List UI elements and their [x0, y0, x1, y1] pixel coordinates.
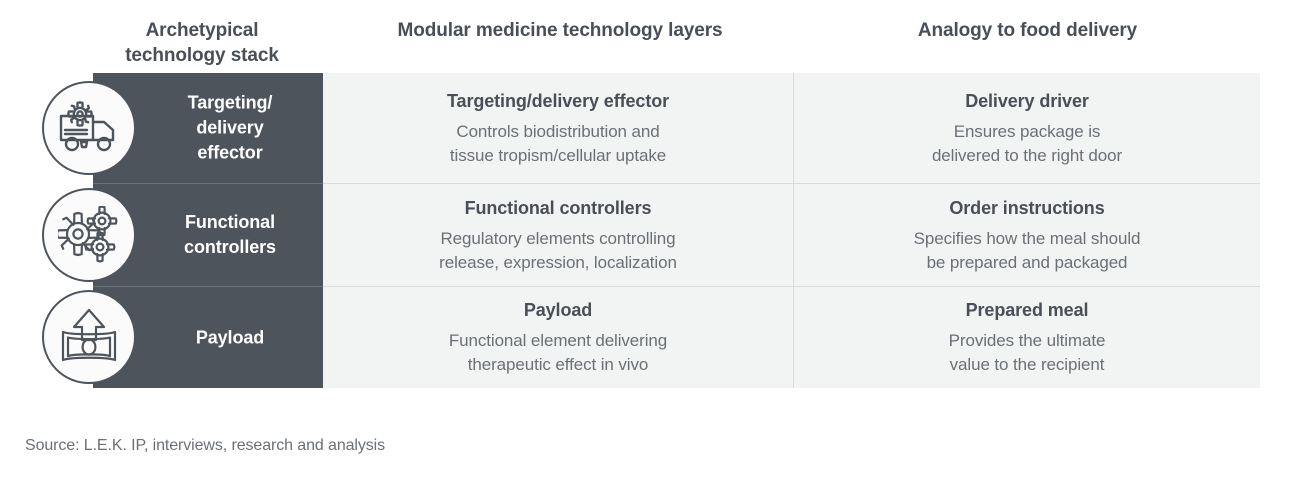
stack-label: Payload: [137, 325, 323, 350]
analogy-cell-prepared-meal: Prepared meal Provides the ultimate valu…: [793, 286, 1260, 388]
source-note: Source: L.E.K. IP, interviews, research …: [25, 435, 385, 457]
layer-cell-functional-controllers: Functional controllers Regulatory elemen…: [323, 183, 793, 286]
column-header-modular-medicine-layers: Modular medicine technology layers: [330, 18, 790, 43]
stack-label: Functional controllers: [137, 210, 323, 260]
layer-cell-payload: Payload Functional element delivering th…: [323, 286, 793, 388]
column-header-technology-stack: Archetypical technology stack: [42, 18, 362, 68]
stack-label: Targeting/ delivery effector: [137, 91, 323, 166]
cell-title: Order instructions: [949, 196, 1104, 220]
comparison-matrix: Targeting/ delivery effector: [42, 73, 1260, 388]
cell-title: Targeting/delivery effector: [447, 89, 669, 113]
three-gears-icon: [42, 188, 136, 282]
cell-description: Ensures package is delivered to the righ…: [932, 120, 1122, 168]
cell-description: Regulatory elements controlling release,…: [439, 227, 677, 275]
delivery-truck-gear-icon: [42, 81, 136, 175]
cell-title: Prepared meal: [966, 298, 1089, 322]
analogy-cell-delivery-driver: Delivery driver Ensures package is deliv…: [793, 73, 1260, 183]
analogy-cell-order-instructions: Order instructions Specifies how the mea…: [793, 183, 1260, 286]
table-row: Targeting/ delivery effector: [42, 73, 1260, 183]
cell-title: Functional controllers: [465, 196, 652, 220]
cell-description: Controls biodistribution and tissue trop…: [450, 120, 666, 168]
cell-description: Provides the ultimate value to the recip…: [949, 329, 1106, 377]
payload-arrow-icon: [42, 290, 136, 384]
cell-title: Payload: [524, 298, 592, 322]
cell-description: Functional element delivering therapeuti…: [449, 329, 667, 377]
column-header-row: Archetypical technology stack Modular me…: [0, 12, 1300, 70]
cell-title: Delivery driver: [965, 89, 1089, 113]
column-header-food-delivery-analogy: Analogy to food delivery: [795, 18, 1260, 43]
table-row: Functional controllers: [42, 183, 1260, 286]
layer-cell-targeting-delivery-effector: Targeting/delivery effector Controls bio…: [323, 73, 793, 183]
cell-description: Specifies how the meal should be prepare…: [914, 227, 1141, 275]
table-row: Payload Payload Functional element deliv…: [42, 286, 1260, 388]
exhibit-sheet: Archetypical technology stack Modular me…: [0, 0, 1300, 494]
